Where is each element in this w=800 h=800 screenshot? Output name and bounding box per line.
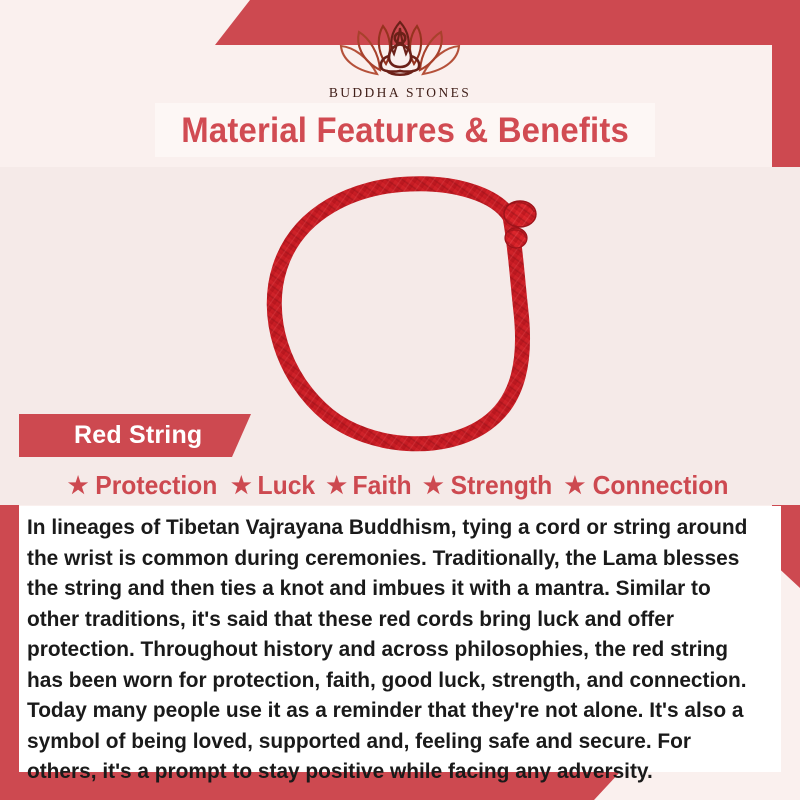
benefit-item-connection: ★ Connection <box>565 470 733 501</box>
benefit-item-strength: ★ Strength <box>423 470 555 501</box>
benefit-label: Luck <box>257 470 315 501</box>
benefit-label: Faith <box>352 470 411 501</box>
red-string-bracelet-image <box>258 172 578 462</box>
material-name-label: Red String <box>19 421 202 450</box>
description-panel: In lineages of Tibetan Vajrayana Buddhis… <box>19 506 781 772</box>
header: BUDDHA STONES Material Features & Benefi… <box>0 0 800 167</box>
benefit-label: Strength <box>450 470 552 501</box>
infographic-canvas: BUDDHA STONES Material Features & Benefi… <box>0 0 800 800</box>
benefit-item-faith: ★ Faith <box>326 470 413 501</box>
lotus-meditation-icon <box>337 14 463 82</box>
star-icon: ★ <box>423 474 444 497</box>
brand-name: BUDDHA STONES <box>329 85 471 101</box>
benefits-row: ★ Protection ★ Luck ★ Faith ★ Strength ★… <box>0 464 800 506</box>
page-title: Material Features & Benefits <box>181 113 629 148</box>
benefit-item-protection: ★ Protection <box>68 470 221 501</box>
title-banner: Material Features & Benefits <box>155 103 655 157</box>
star-icon: ★ <box>565 474 586 497</box>
description-text: In lineages of Tibetan Vajrayana Buddhis… <box>27 512 749 787</box>
benefit-label: Protection <box>96 470 218 501</box>
brand-logo: BUDDHA STONES <box>0 14 800 101</box>
star-icon: ★ <box>231 474 252 497</box>
star-icon: ★ <box>326 474 347 497</box>
benefit-label: Connection <box>593 470 729 501</box>
star-icon: ★ <box>68 474 89 497</box>
benefit-item-luck: ★ Luck <box>231 470 316 501</box>
material-name-banner: Red String <box>19 414 251 457</box>
